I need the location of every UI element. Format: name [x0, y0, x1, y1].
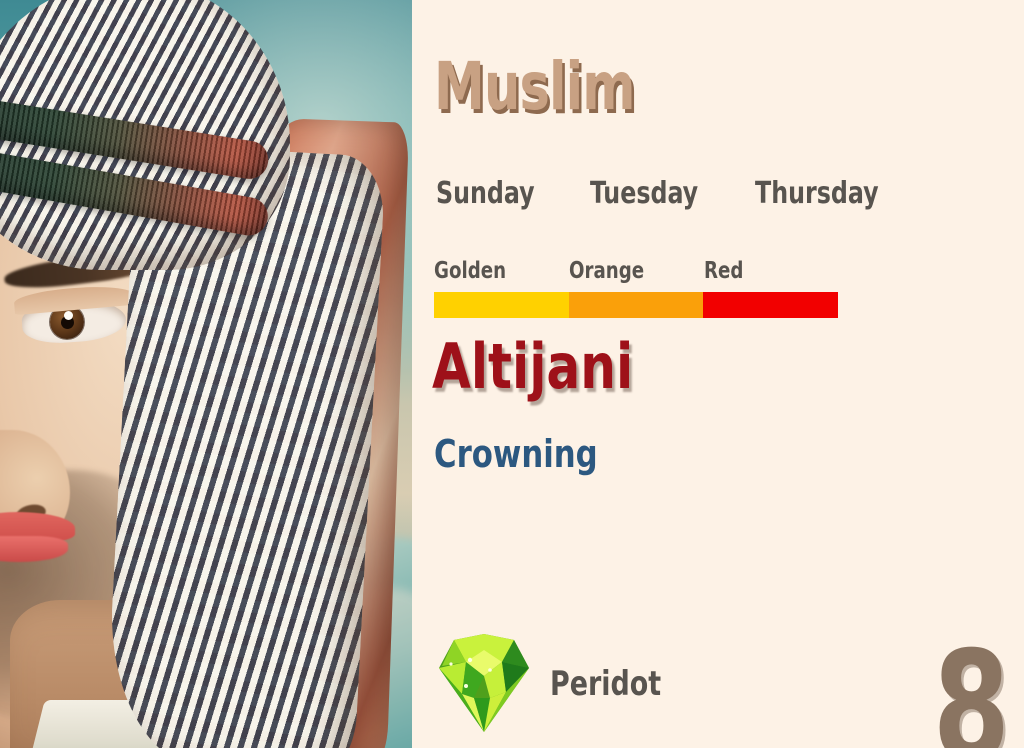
portrait-photo	[0, 0, 412, 748]
lucky-day-thursday: Thursday	[755, 176, 879, 211]
color-swatch-red	[703, 292, 838, 318]
lucky-days-list: Sunday Tuesday Thursday	[436, 176, 906, 211]
page-title: Muslim	[434, 48, 635, 125]
name-meaning: Crowning	[434, 432, 598, 476]
gemstone-label: Peridot	[550, 664, 661, 704]
lucky-day-sunday: Sunday	[436, 176, 535, 211]
color-label-golden: Golden	[434, 258, 553, 284]
info-panel: Muslim Sunday Tuesday Thursday Golden Or…	[412, 0, 1024, 748]
eye-glint	[64, 311, 73, 320]
gem-icon-svg	[434, 632, 534, 736]
color-label-orange: Orange	[569, 258, 688, 284]
gemstone-row: Peridot	[434, 632, 676, 736]
lucky-colors-labels: Golden Orange Red	[434, 258, 854, 284]
color-swatch-golden	[434, 292, 569, 318]
person-name: Altijani	[432, 330, 633, 403]
color-swatch-orange	[569, 292, 704, 318]
name-info-card: Muslim Sunday Tuesday Thursday Golden Or…	[0, 0, 1024, 748]
gem-icon	[434, 632, 534, 736]
color-label-red: Red	[704, 258, 823, 284]
lucky-day-tuesday: Tuesday	[590, 176, 698, 211]
card-number: 8	[933, 632, 1010, 748]
lucky-colors-bar	[434, 292, 838, 318]
